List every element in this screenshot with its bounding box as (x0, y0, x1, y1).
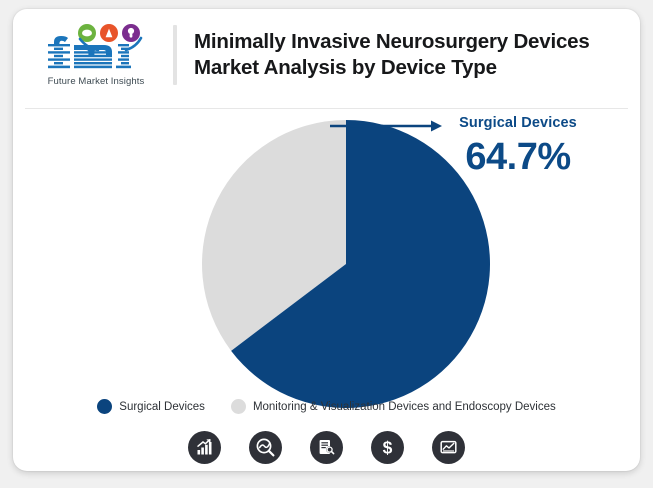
legend-item[interactable]: Monitoring & Visualization Devices and E… (231, 399, 556, 414)
page-title-line2: Market Analysis by Device Type (194, 55, 590, 81)
legend: Surgical Devices Monitoring & Visualizat… (13, 399, 640, 414)
legend-dot-icon (97, 399, 112, 414)
bar-chart-growth-icon[interactable] (188, 431, 221, 464)
callout-value: 64.7% (423, 137, 613, 179)
legend-item-label: Surgical Devices (119, 401, 205, 413)
logo-tagline: Future Market Insights (48, 76, 145, 87)
callout: Surgical Devices 64.7% (423, 115, 613, 179)
header-divider (173, 25, 177, 85)
legend-item-label: Monitoring & Visualization Devices and E… (253, 401, 556, 413)
legend-item[interactable]: Surgical Devices (97, 399, 205, 414)
dollar-revenue-icon[interactable]: $ (371, 431, 404, 464)
legend-dot-icon (231, 399, 246, 414)
fmi-logo-mark (40, 23, 152, 75)
report-document-icon[interactable] (310, 431, 343, 464)
trend-area-chart-icon[interactable] (432, 431, 465, 464)
brand-logo: Future Market Insights (33, 23, 159, 87)
page-title: Minimally Invasive Neurosurgery Devices … (194, 29, 590, 80)
callout-label: Surgical Devices (423, 115, 613, 131)
header: Future Market Insights Minimally Invasiv… (13, 9, 640, 100)
page-title-line1: Minimally Invasive Neurosurgery Devices (194, 29, 590, 55)
svg-text:$: $ (383, 438, 393, 457)
icon-row: $ (13, 431, 640, 464)
market-research-magnifier-icon[interactable] (249, 431, 282, 464)
fmi-wordmark-icon (40, 23, 152, 75)
chart-area: Surgical Devices 64.7% Surgical Devices … (13, 109, 640, 471)
infographic-card: Future Market Insights Minimally Invasiv… (13, 9, 640, 471)
